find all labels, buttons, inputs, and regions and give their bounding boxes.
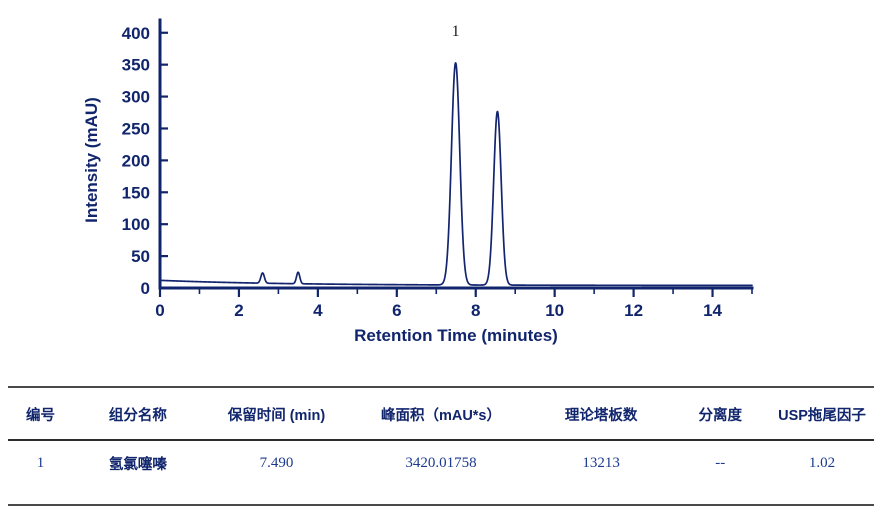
column-header-tailing: USP拖尾因子 — [770, 388, 874, 439]
table-rule-bottom — [8, 504, 874, 506]
chromatogram-trace — [160, 63, 752, 285]
svg-text:250: 250 — [122, 119, 150, 138]
svg-text:50: 50 — [131, 247, 150, 266]
column-header-no: 编号 — [8, 388, 73, 439]
svg-text:0: 0 — [141, 279, 150, 298]
cell-peak-area: 3420.01758 — [350, 441, 532, 504]
chromatogram-panel: 050100150200250300350400 02468101214 1 R… — [0, 0, 882, 370]
svg-text:6: 6 — [392, 301, 401, 320]
svg-text:200: 200 — [122, 151, 150, 170]
column-header-area: 峰面积（mAU*s） — [350, 388, 532, 439]
column-header-rt: 保留时间 (min) — [203, 388, 350, 439]
table-header-row: 编号 组分名称 保留时间 (min) 峰面积（mAU*s） 理论塔板数 分离度 … — [8, 388, 874, 439]
cell-usp-tailing: 1.02 — [770, 441, 874, 504]
svg-text:150: 150 — [122, 183, 150, 202]
svg-text:1: 1 — [452, 23, 460, 40]
svg-text:400: 400 — [122, 24, 150, 43]
chromatogram-svg: 050100150200250300350400 02468101214 1 R… — [0, 0, 882, 370]
svg-text:12: 12 — [624, 301, 643, 320]
column-header-resolution: 分离度 — [670, 388, 770, 439]
x-axis-title: Retention Time (minutes) — [354, 326, 558, 345]
svg-text:4: 4 — [313, 301, 323, 320]
column-header-name: 组分名称 — [73, 388, 203, 439]
cell-theoretical-plates: 13213 — [532, 441, 671, 504]
y-axis-title: Intensity (mAU) — [82, 97, 101, 223]
table-row: 1 氢氯噻嗪 7.490 3420.01758 13213 -- 1.02 — [8, 441, 874, 504]
svg-text:350: 350 — [122, 56, 150, 75]
svg-text:100: 100 — [122, 215, 150, 234]
svg-text:0: 0 — [155, 301, 164, 320]
peak-results-table: 编号 组分名称 保留时间 (min) 峰面积（mAU*s） 理论塔板数 分离度 … — [8, 386, 874, 506]
svg-text:300: 300 — [122, 88, 150, 107]
cell-resolution: -- — [670, 441, 770, 504]
column-header-plates: 理论塔板数 — [532, 388, 671, 439]
cell-name: 氢氯噻嗪 — [73, 441, 203, 504]
svg-text:2: 2 — [234, 301, 243, 320]
svg-text:8: 8 — [471, 301, 480, 320]
svg-text:14: 14 — [703, 301, 722, 320]
svg-text:10: 10 — [545, 301, 564, 320]
cell-no: 1 — [8, 441, 73, 504]
cell-retention-time: 7.490 — [203, 441, 350, 504]
y-axis-tick-labels: 050100150200250300350400 — [122, 24, 150, 298]
peak-number-annotations: 1 — [452, 23, 460, 40]
x-axis-tick-labels: 02468101214 — [155, 301, 722, 320]
